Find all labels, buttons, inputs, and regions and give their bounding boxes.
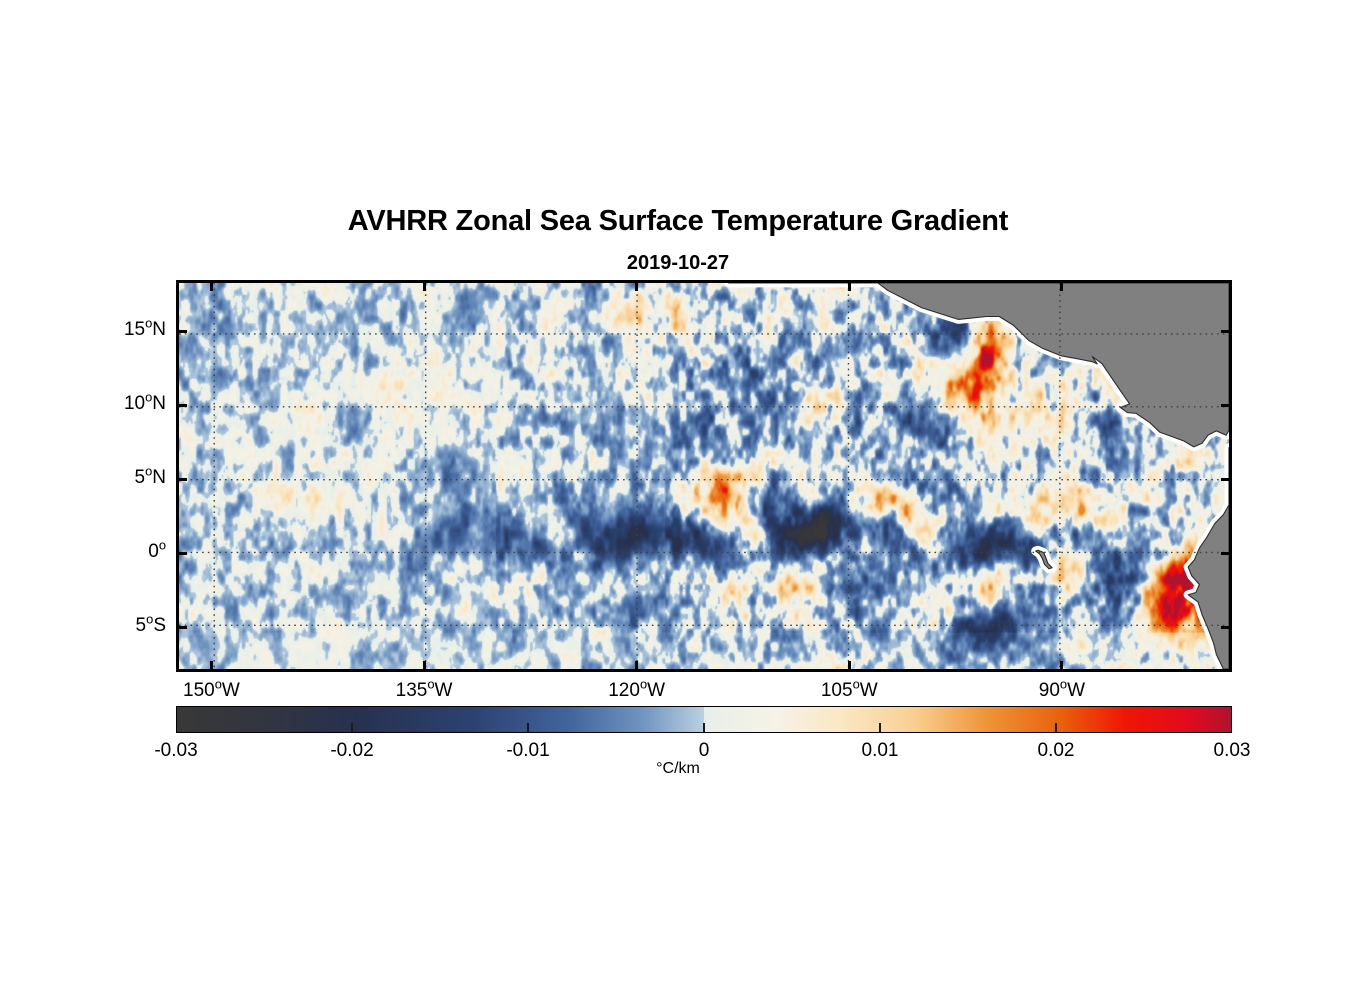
map-axes[interactable] [176,280,1232,672]
ytick-right-2 [1221,478,1232,481]
xtick-bottom-3 [848,661,851,672]
xtick-bottom-0 [210,661,213,672]
ytick-right-1 [1221,404,1232,407]
colorbar-label-2: -0.01 [468,740,588,762]
ytick-left-4 [176,626,187,629]
ytick-left-2 [176,478,187,481]
xtick-label-2: 120oW [567,680,707,702]
xtick-top-3 [848,280,851,291]
colorbar-label-5: 0.02 [996,740,1116,762]
xtick-label-4: 90oW [992,680,1132,702]
ytick-left-1 [176,404,187,407]
ytick-right-0 [1221,330,1232,333]
colorbar-label-4: 0.01 [820,740,940,762]
figure-canvas: AVHRR Zonal Sea Surface Temperature Grad… [0,0,1356,1000]
xtick-label-1: 135oW [354,680,494,702]
ytick-left-0 [176,330,187,333]
ytick-label-3: 0o [41,541,166,563]
xtick-top-4 [1060,280,1063,291]
graticule-grid [179,283,1229,669]
colorbar-tick-4 [879,723,881,732]
xtick-label-3: 105oW [779,680,919,702]
colorbar-label-1: -0.02 [292,740,412,762]
ytick-label-4: 5oS [41,615,166,637]
colorbar-label-3: 0 [644,740,764,762]
colorbar-tick-1 [351,723,353,732]
xtick-bottom-4 [1060,661,1063,672]
colorbar-label-6: 0.03 [1172,740,1292,762]
colorbar-tick-2 [527,723,529,732]
colorbar-label-0: -0.03 [116,740,236,762]
colorbar-unit-label: °C/km [0,760,1356,778]
ytick-label-0: 15oN [41,319,166,341]
colorbar[interactable] [176,706,1232,733]
xtick-top-0 [210,280,213,291]
xtick-bottom-2 [635,661,638,672]
ytick-label-2: 5oN [41,467,166,489]
figure-subtitle-date: 2019-10-27 [0,252,1356,275]
page-title: AVHRR Zonal Sea Surface Temperature Grad… [0,205,1356,238]
ytick-right-3 [1221,552,1232,555]
xtick-top-1 [423,280,426,291]
xtick-label-0: 150oW [141,680,281,702]
xtick-top-2 [635,280,638,291]
ytick-left-3 [176,552,187,555]
xtick-bottom-1 [423,661,426,672]
colorbar-tick-3 [703,723,705,732]
colorbar-tick-5 [1055,723,1057,732]
ytick-right-4 [1221,626,1232,629]
ytick-label-1: 10oN [41,393,166,415]
